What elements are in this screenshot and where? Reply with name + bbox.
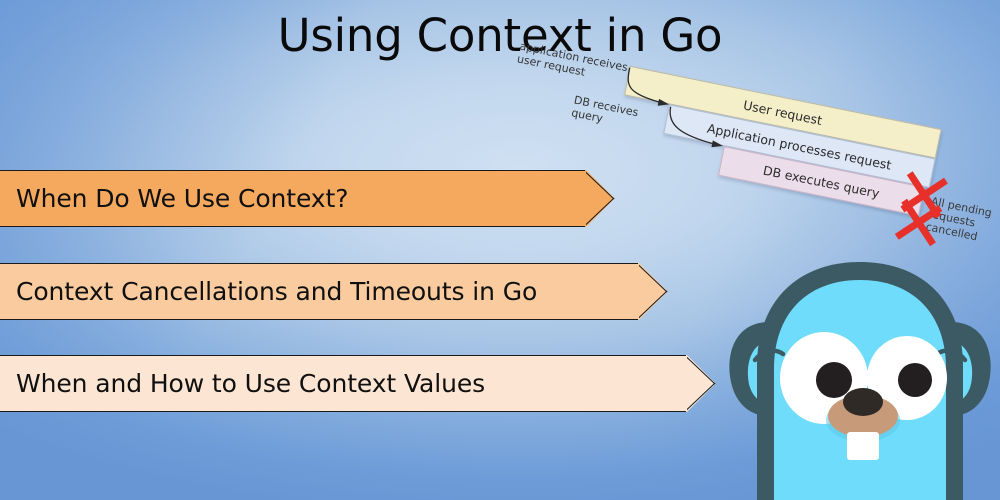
slide-canvas: Using Context in Go When Do We Use Conte… (0, 0, 1000, 500)
banner-seam (685, 356, 687, 411)
banner-label: Context Cancellations and Timeouts in Go (16, 277, 537, 306)
gopher-tooth (847, 432, 879, 460)
banner-label: When and How to Use Context Values (16, 369, 485, 398)
banner-seam (637, 264, 639, 319)
banner-context-cancellations-and-timeouts[interactable]: Context Cancellations and Timeouts in Go (0, 263, 639, 320)
go-gopher-icon (717, 244, 1000, 500)
banner-seam (584, 171, 586, 226)
banner-when-and-how-to-use-context-values[interactable]: When and How to Use Context Values (0, 355, 687, 412)
banner-label: When Do We Use Context? (16, 184, 348, 213)
page-title: Using Context in Go (0, 6, 1000, 66)
banner-when-do-we-use-context[interactable]: When Do We Use Context? (0, 170, 586, 227)
